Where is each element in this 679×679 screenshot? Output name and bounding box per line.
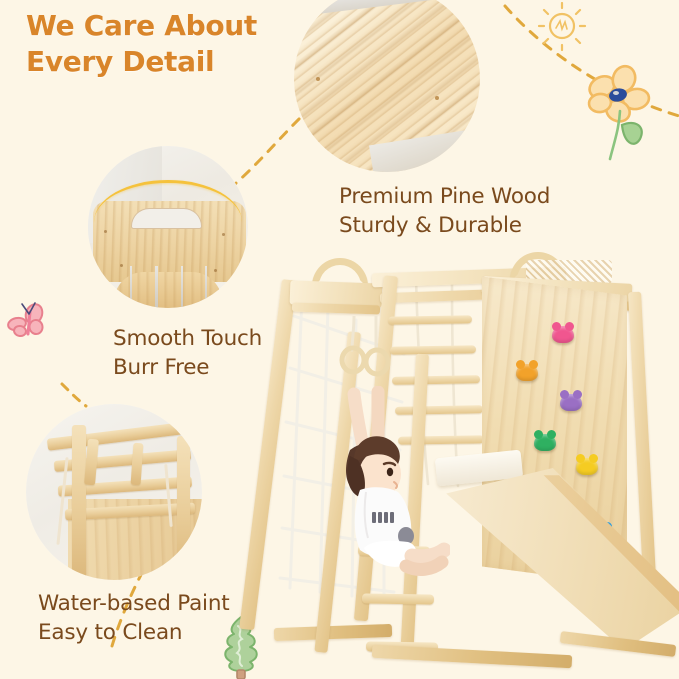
butterfly-icon	[4, 300, 50, 346]
feature-photo-smooth-touch	[88, 146, 248, 308]
feature-photo-water-based-paint	[26, 404, 202, 580]
climbing-hold-green	[534, 434, 556, 451]
ladder-rung	[362, 593, 434, 604]
slide	[436, 468, 679, 650]
ladder-and-slide-image	[26, 404, 202, 580]
infographic-poster: We Care About Every Detail	[0, 0, 679, 679]
sanded-panel-image	[88, 146, 248, 308]
pine-wood-closeup-image	[294, 0, 480, 172]
flower-icon	[572, 55, 664, 165]
climbing-hold-orange	[516, 364, 538, 381]
feature-photo-premium-pine-wood	[294, 0, 480, 172]
caption-premium-pine-wood: Premium Pine Wood Sturdy & Durable	[339, 183, 639, 241]
child-hanging-from-rings	[320, 386, 450, 581]
product-image-playset	[276, 246, 679, 679]
page-title: We Care About Every Detail	[26, 8, 326, 80]
climbing-hold-pink	[552, 326, 574, 343]
climbing-hold-purple	[560, 394, 582, 411]
frame-left-foot	[274, 624, 392, 641]
